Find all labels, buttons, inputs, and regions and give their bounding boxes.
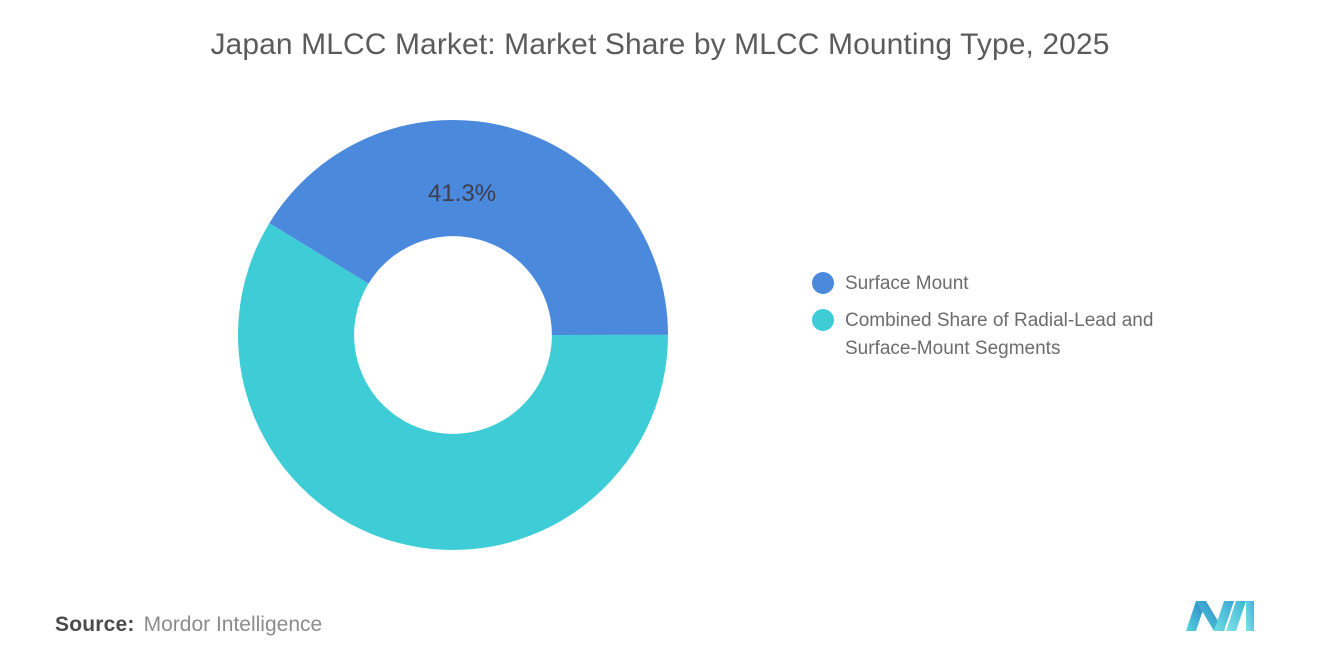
mordor-intelligence-logo-icon: [1184, 597, 1256, 633]
slice-value-label-surface-mount: 41.3%: [428, 180, 496, 208]
source-value: Mordor Intelligence: [144, 613, 323, 637]
chart-legend: Surface Mount Combined Share of Radial-L…: [812, 270, 1232, 372]
legend-swatch-icon: [812, 272, 834, 294]
logo-svg: [1184, 597, 1256, 633]
source-attribution: Source: Mordor Intelligence: [55, 613, 322, 637]
legend-item-label: Surface Mount: [845, 270, 969, 298]
legend-item-label: Combined Share of Radial-Lead and Surfac…: [845, 307, 1215, 363]
page-title: Japan MLCC Market: Market Share by MLCC …: [0, 28, 1320, 62]
source-label: Source:: [55, 613, 135, 637]
legend-swatch-icon: [812, 309, 834, 331]
legend-item-combined-share[interactable]: Combined Share of Radial-Lead and Surfac…: [812, 307, 1232, 363]
legend-item-surface-mount[interactable]: Surface Mount: [812, 270, 1232, 298]
